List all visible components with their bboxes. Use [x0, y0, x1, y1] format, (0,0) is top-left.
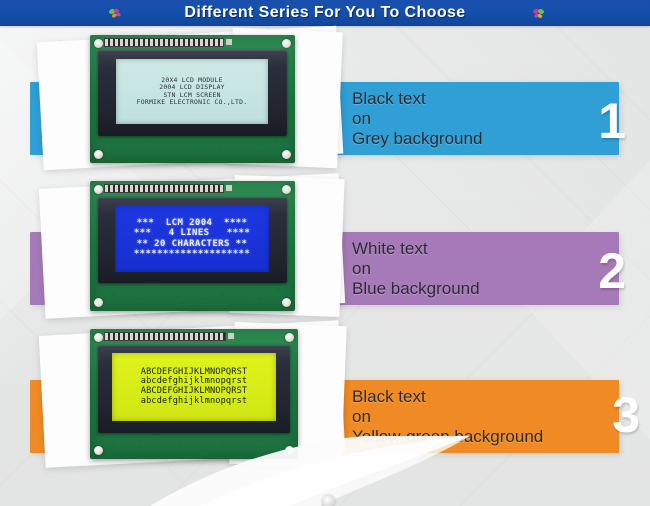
lcd-line: ** 20 CHARACTERS ** [137, 239, 248, 249]
lcd-screen: 20X4 LCD MODULE 2004 LCD DISPLAY STN LCM… [116, 59, 268, 124]
header-bar: Different Series For You To Choose [0, 0, 650, 26]
caption-line: on [352, 259, 582, 279]
caption-line: Black text [352, 387, 582, 407]
caption-line: on [352, 109, 582, 129]
lcd-module: *** LCM 2004 **** *** 4 LINES **** ** 20… [90, 181, 295, 311]
caption-line: Grey background [352, 129, 582, 149]
lcd-screen: ABCDEFGHIJKLMNOPQRST abcdefghijklmnopqrs… [112, 353, 276, 421]
row-number: 1 [598, 96, 626, 146]
row-number: 2 [598, 246, 626, 296]
lcd-module: 20X4 LCD MODULE 2004 LCD DISPLAY STN LCM… [90, 35, 295, 163]
caption-line: Blue background [352, 279, 582, 299]
lcd-line: ******************** [134, 249, 250, 259]
row-number: 3 [612, 390, 640, 440]
page-title: Different Series For You To Choose [0, 0, 650, 26]
lcd-line: *** 4 LINES **** [134, 228, 250, 238]
series-row-1: 20X4 LCD MODULE 2004 LCD DISPLAY STN LCM… [0, 30, 650, 178]
row-caption: Black text on Grey background [352, 82, 582, 155]
lcd-line: *** LCM 2004 **** [137, 218, 248, 228]
caption-line: on [352, 407, 582, 427]
page-root: Different Series For You To Choose [0, 0, 650, 506]
row-caption: White text on Blue background [352, 232, 582, 305]
series-row-2: *** LCM 2004 **** *** 4 LINES **** ** 20… [0, 175, 650, 323]
caption-line: White text [352, 239, 582, 259]
lcd-line: abcdefghijklmnopqrst [141, 397, 247, 407]
caption-line: Black text [352, 89, 582, 109]
lcd-screen: *** LCM 2004 **** *** 4 LINES **** ** 20… [115, 205, 269, 272]
lcd-line: FORMIKE ELECTRONIC CO.,LTD. [137, 99, 248, 106]
footer-dot-icon [322, 495, 335, 506]
color-dots-icon [528, 6, 548, 21]
